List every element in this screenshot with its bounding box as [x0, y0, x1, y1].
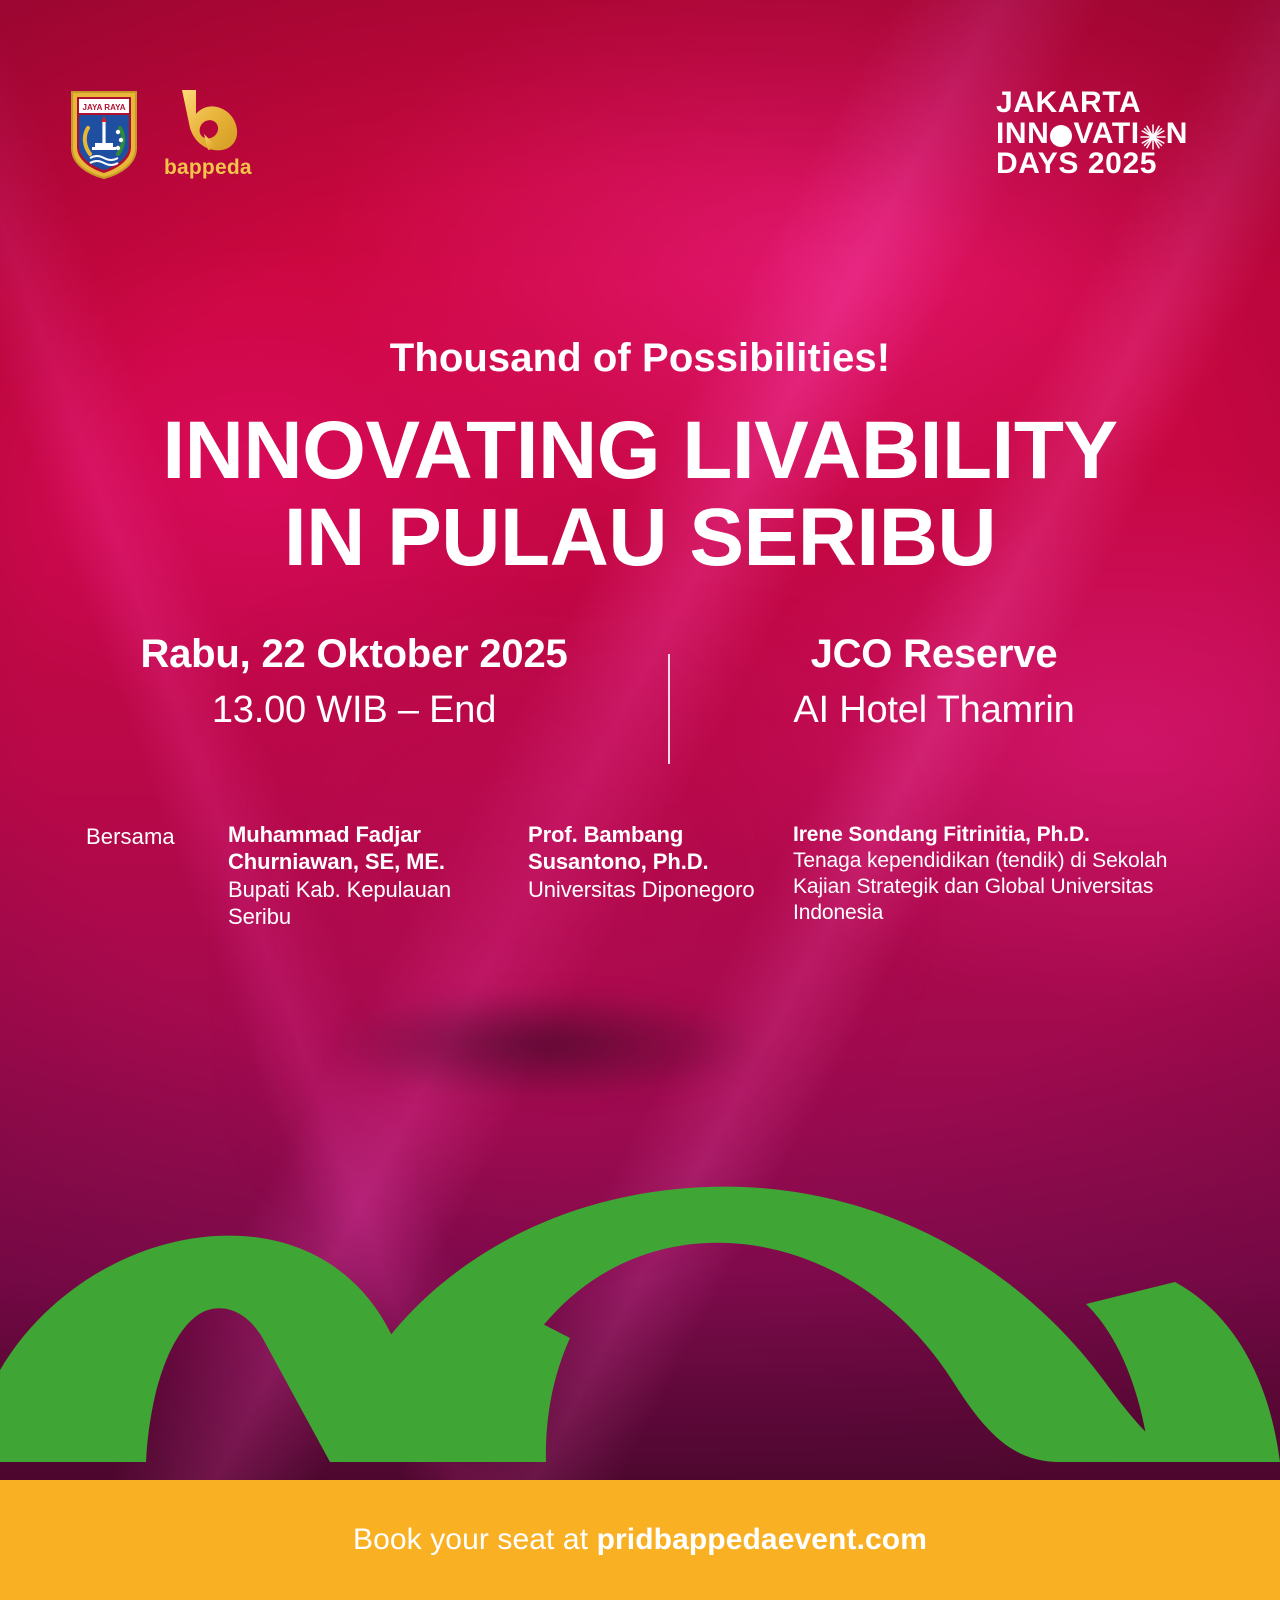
speaker-card: Prof. Bambang Susantono, Ph.D. Universit… [528, 822, 793, 903]
speakers-section: Bersama Muhammad Fadjar Churniawan, SE, … [86, 822, 1196, 930]
event-details: Rabu, 22 Oktober 2025 13.00 WIB – End JC… [0, 632, 1280, 732]
starburst-icon [1140, 124, 1166, 150]
speaker-card: Muhammad Fadjar Churniawan, SE, ME. Bupa… [228, 822, 528, 930]
logo-vati-text: VATI [1073, 119, 1139, 150]
speakers-label: Bersama [86, 822, 228, 850]
venue-block: JCO Reserve AI Hotel Thamrin [668, 632, 1280, 732]
jakarta-innovation-days-logo: JAKARTA INN VATI [996, 88, 1188, 180]
speaker-role: Universitas Diponegoro [528, 876, 775, 903]
date-time-block: Rabu, 22 Oktober 2025 13.00 WIB – End [0, 632, 668, 732]
logo-n-text: N [1166, 119, 1188, 150]
logo-line-innovation: INN VATI N [996, 119, 1188, 150]
bappeda-logo: bappeda [164, 88, 252, 180]
vertical-divider [668, 654, 670, 764]
speaker-name: Prof. Bambang Susantono, Ph.D. [528, 822, 775, 876]
booking-prefix: Book your seat at [353, 1523, 597, 1556]
booking-text: Book your seat at pridbappedaevent.com [353, 1523, 927, 1557]
event-time: 13.00 WIB – End [40, 689, 668, 732]
logo-filled-o-icon [1050, 125, 1072, 147]
logo-inn-text: INN [996, 119, 1049, 150]
speaker-role: Bupati Kab. Kepulauan Seribu [228, 876, 510, 931]
booking-banner[interactable]: Book your seat at pridbappedaevent.com [0, 1480, 1280, 1600]
bappeda-b-mark [174, 88, 242, 152]
page-title: INNOVATING LIVABILITY IN PULAU SERIBU [0, 408, 1280, 582]
venue-place: AI Hotel Thamrin [668, 689, 1200, 732]
logo-line-days-2025: DAYS 2025 [996, 149, 1188, 180]
green-swoosh-artwork [0, 1132, 1280, 1462]
speaker-card: Irene Sondang Fitrinitia, Ph.D. Tenaga k… [793, 822, 1193, 926]
bappeda-wordmark: bappeda [164, 156, 252, 180]
booking-url[interactable]: pridbappedaevent.com [597, 1523, 927, 1556]
headline-line-2: IN PULAU SERIBU [0, 495, 1280, 582]
venue-name: JCO Reserve [668, 632, 1200, 677]
headline-line-1: INNOVATING LIVABILITY [162, 405, 1117, 496]
speaker-role: Tenaga kependidikan (tendik) di Sekolah … [793, 848, 1193, 926]
speaker-name: Irene Sondang Fitrinitia, Ph.D. [793, 822, 1193, 848]
event-poster: JAYA RAYA [0, 0, 1280, 1600]
jakarta-provincial-emblem: JAYA RAYA [68, 88, 140, 180]
partner-logos: JAYA RAYA [68, 88, 252, 180]
speaker-name: Muhammad Fadjar Churniawan, SE, ME. [228, 822, 510, 876]
event-date: Rabu, 22 Oktober 2025 [40, 632, 668, 677]
tagline: Thousand of Possibilities! [0, 336, 1280, 381]
svg-text:JAYA RAYA: JAYA RAYA [83, 103, 126, 112]
logo-line-jakarta: JAKARTA [996, 88, 1188, 119]
